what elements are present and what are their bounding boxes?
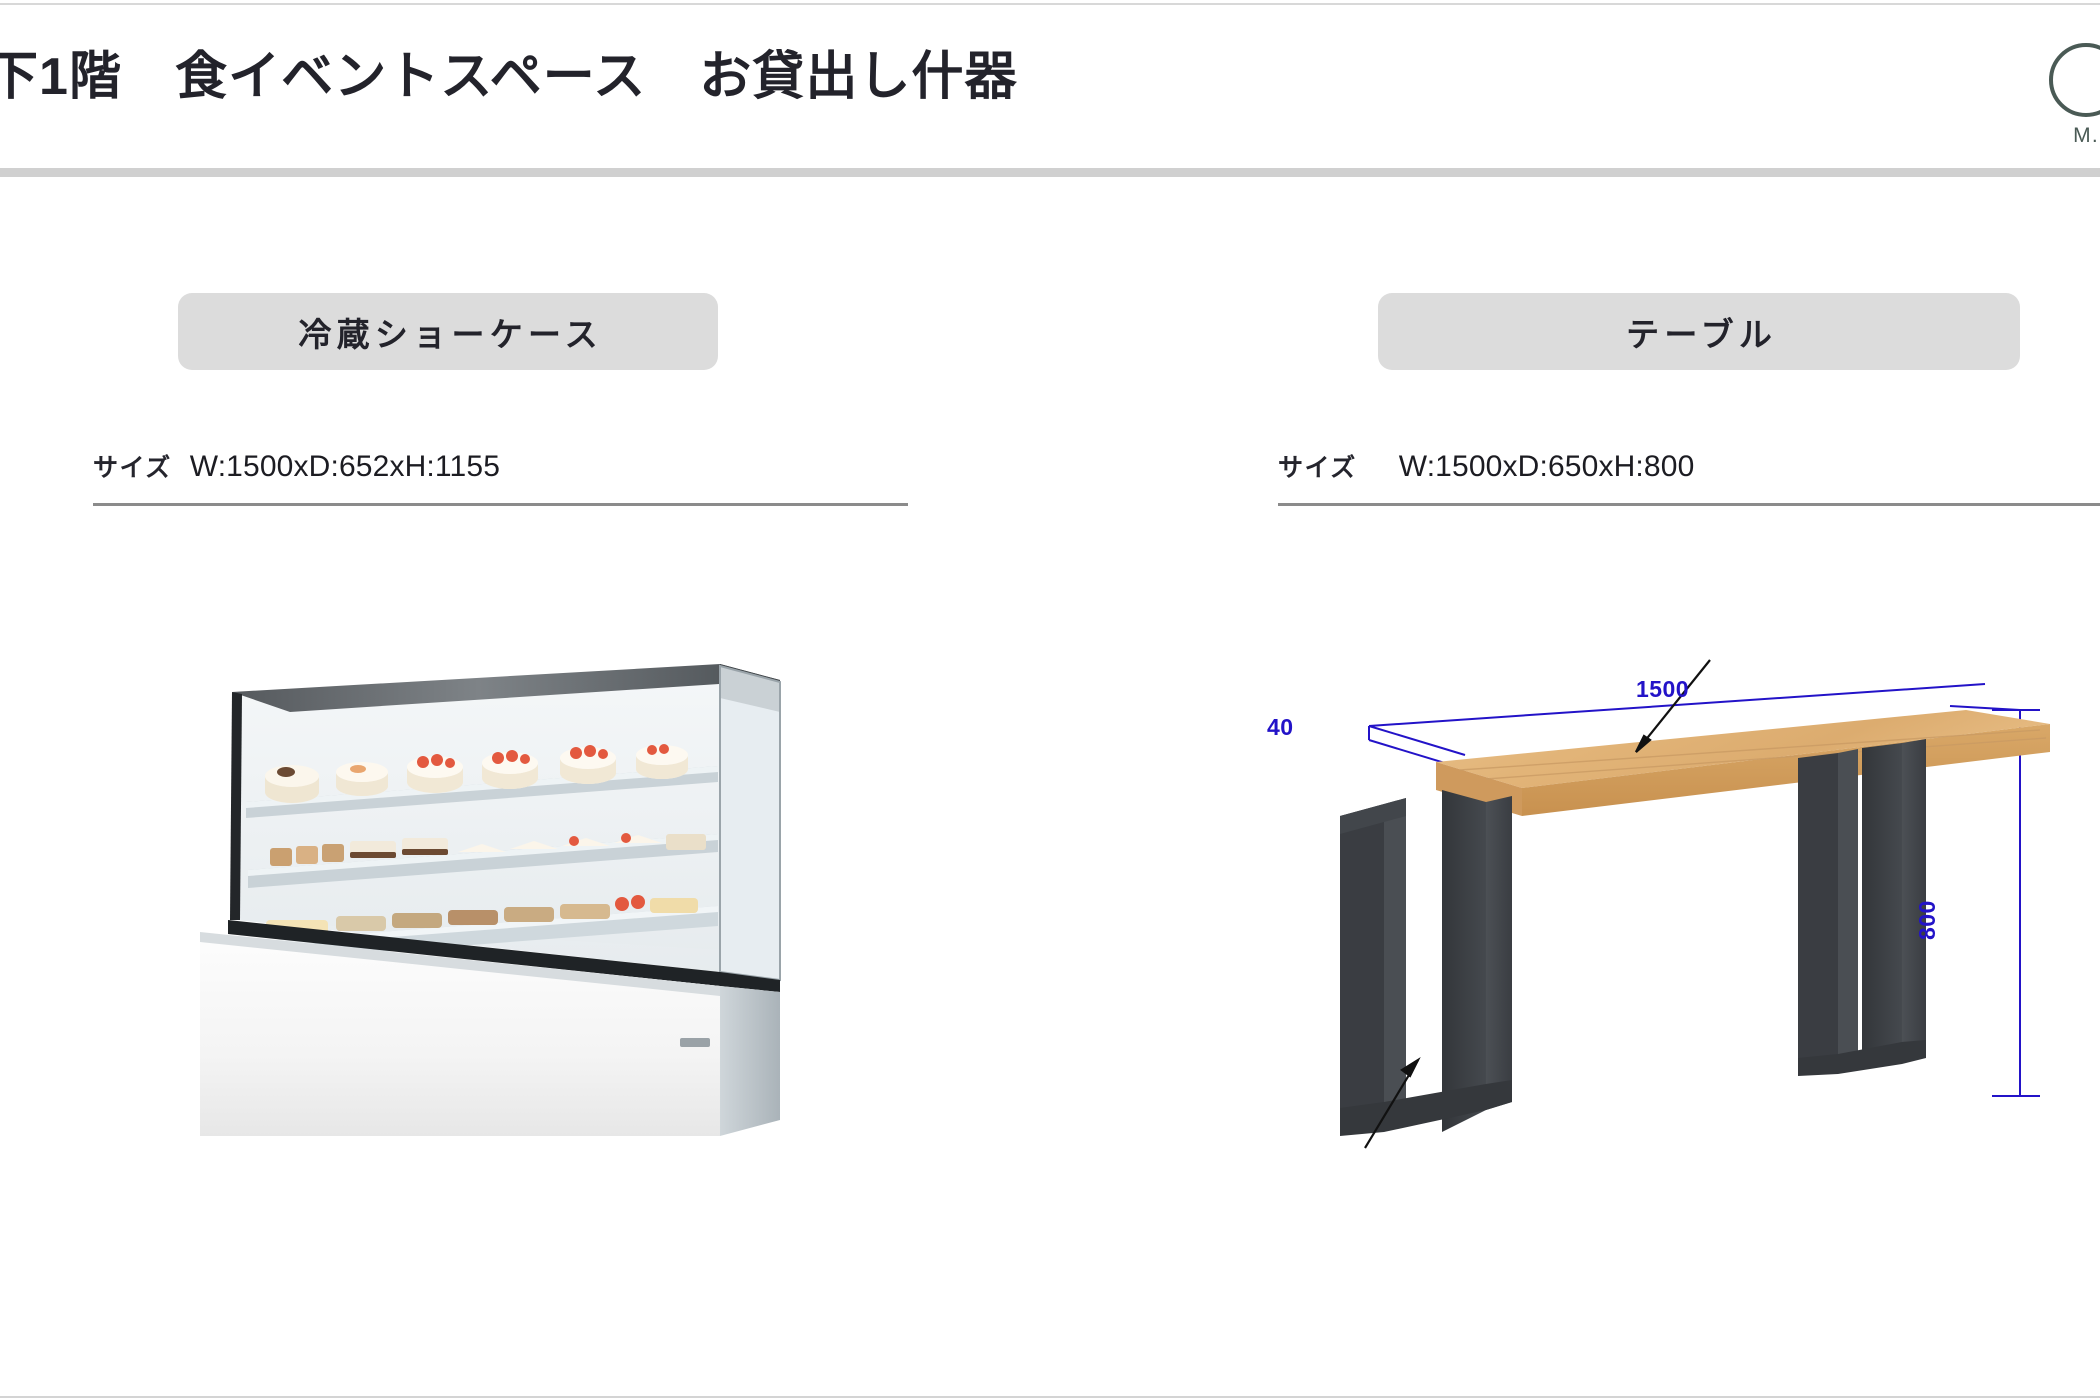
table-callout-arrows	[1365, 660, 1710, 1148]
page-bottom-rule	[0, 1396, 2100, 1398]
table-dimension-width: 1500	[1636, 676, 1689, 703]
size-row-table: サイズ W:1500xD:650xH:800	[1278, 448, 1694, 484]
size-value-table: W:1500xD:650xH:800	[1399, 450, 1695, 484]
header-divider	[0, 168, 2100, 177]
size-underline-showcase	[93, 503, 908, 506]
page-header: 下1階 食イベントスペース お貸出し什器 M.	[0, 5, 2100, 168]
size-underline-table	[1278, 503, 2100, 506]
brand-logo: M.	[2038, 43, 2100, 148]
item-label-pill-showcase: 冷蔵ショーケース	[178, 293, 718, 370]
showcase-base-side	[720, 986, 780, 1136]
item-label-showcase: 冷蔵ショーケース	[293, 308, 603, 356]
table-dimension-thickness: 40	[1267, 714, 1294, 741]
showcase-left-post	[230, 692, 242, 920]
table-image: 1500 40 800	[1250, 640, 2100, 1160]
item-label-table: テーブル	[1621, 308, 1777, 356]
size-label-table: サイズ	[1278, 448, 1357, 484]
showcase-image	[180, 620, 820, 1150]
showcase-svg	[180, 620, 820, 1150]
table-dimension-height: 800	[1914, 900, 1941, 940]
table-illustration: 1500 40 800	[1250, 640, 2100, 1160]
size-value-showcase: W:1500xD:652xH:1155	[190, 450, 500, 484]
showcase-brand-plate	[680, 1038, 710, 1047]
showcase-illustration	[180, 620, 820, 1150]
table-leg-right	[1798, 739, 1926, 1076]
brand-logo-text: M.	[2038, 124, 2100, 148]
circle-outline-icon	[2049, 43, 2100, 117]
size-row-showcase: サイズ W:1500xD:652xH:1155	[93, 448, 500, 484]
size-label-showcase: サイズ	[93, 448, 172, 484]
table-svg	[1250, 640, 2100, 1160]
page-root: 下1階 食イベントスペース お貸出し什器 M. 冷蔵ショーケース サイズ W:1…	[0, 0, 2100, 1400]
item-label-pill-table: テーブル	[1378, 293, 2020, 370]
page-title: 下1階 食イベントスペース お貸出し什器	[0, 51, 1017, 103]
table-leg-left	[1340, 790, 1512, 1136]
showcase-side-glass	[720, 666, 780, 980]
